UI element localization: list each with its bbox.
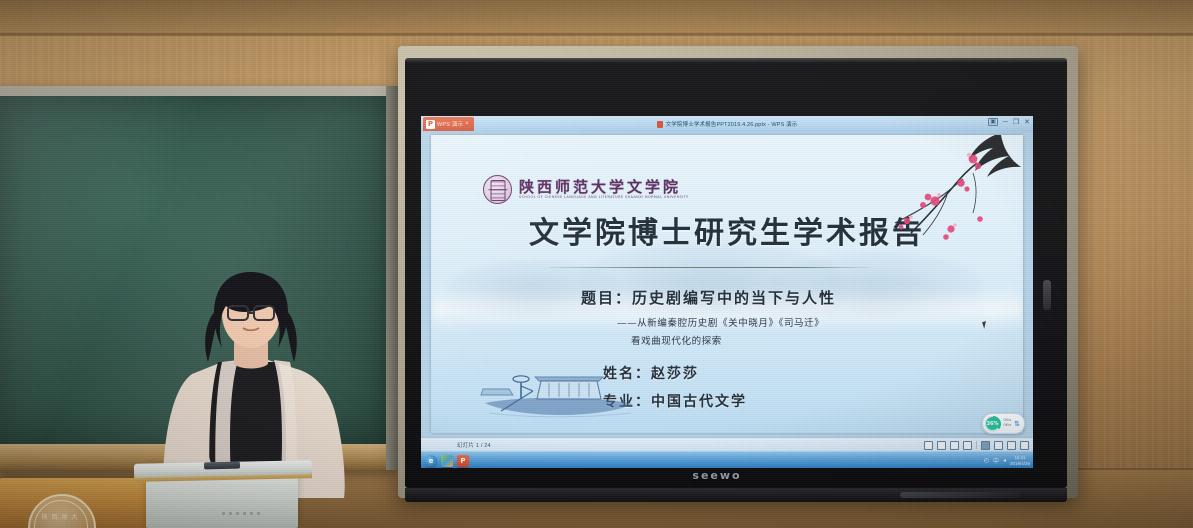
reading-view-icon[interactable] — [1007, 441, 1016, 450]
plum-blossom-icon — [877, 135, 1023, 309]
screenshot-root: seewo P WPS 演示 × 文学院博士学术报告PPT2019.4.26.p… — [0, 0, 1193, 528]
minimize-icon[interactable]: ─ — [1003, 119, 1008, 126]
wps-document-tab[interactable]: P WPS 演示 × — [423, 117, 474, 131]
panel-side-button[interactable] — [1043, 280, 1051, 310]
panel-bezel-highlight — [405, 58, 1067, 63]
close-icon[interactable]: × — [465, 121, 469, 127]
slide-subtitle-line-2: 看戏曲现代化的探索 — [431, 333, 1023, 347]
maximize-icon[interactable]: ❐ — [1013, 119, 1019, 126]
podium-vent-dots — [222, 510, 270, 516]
network-icon[interactable]: ◴ — [984, 457, 989, 464]
wps-logo-icon: P — [426, 120, 435, 129]
clock[interactable]: 15:11 2019/4/26 — [1010, 455, 1030, 465]
logo-text-column: 陕西师范大学文学院 SCHOOL OF CHINESE LANGUAGE AND… — [519, 180, 689, 199]
grid-icon[interactable] — [963, 441, 972, 450]
note-icon[interactable] — [937, 441, 946, 450]
windows-taskbar[interactable]: e P ◴ 中 ◂ 15:11 2019/4/26 — [421, 451, 1033, 468]
status-divider — [976, 441, 977, 449]
panel-brand-logo: seewo — [684, 469, 750, 482]
wps-presentation-taskbar-icon[interactable]: P — [457, 455, 469, 467]
slide-subtitle-line-1: ——从新编秦腔历史剧《关中晓月》《司马迁》 — [431, 315, 1023, 329]
taskbar-icon-group[interactable]: e P — [421, 455, 469, 467]
panel-screen[interactable]: P WPS 演示 × 文学院博士学术报告PPT2019.4.26.pptx - … — [421, 116, 1033, 468]
wps-title-bar: P WPS 演示 × 文学院博士学术报告PPT2019.4.26.pptx - … — [421, 116, 1033, 133]
volume-icon[interactable]: ◂ — [1003, 457, 1006, 464]
progress-percent-label: 36% — [986, 417, 999, 430]
document-icon — [657, 121, 663, 128]
institution-name-en: SCHOOL OF CHINESE LANGUAGE AND LITERATUR… — [519, 196, 689, 199]
lectern-emblem-text: 陕 西 师 大 — [34, 512, 86, 521]
wps-status-bar: 幻灯片 1 / 24 — [421, 437, 1033, 452]
ime-icon[interactable]: 中 — [993, 456, 999, 465]
upload-rate: 0K/s — [1004, 424, 1012, 428]
slide-indicator: 幻灯片 1 / 24 — [421, 441, 491, 449]
panel-ir-sensor-strip — [900, 492, 1020, 498]
ink-boat-icon — [479, 355, 639, 427]
comment-icon[interactable] — [950, 441, 959, 450]
file-explorer-icon[interactable] — [441, 455, 453, 467]
wall-seam-top — [0, 33, 1193, 36]
download-speed-widget[interactable]: 36% 0K/s 0K/s ⇅ — [982, 413, 1025, 434]
institution-name-cn: 陕西师范大学文学院 — [519, 180, 689, 195]
undo-icon[interactable] — [924, 441, 933, 450]
browser-icon[interactable]: e — [425, 455, 437, 467]
status-bar-controls[interactable] — [924, 438, 1029, 452]
remote-control[interactable] — [204, 462, 240, 470]
window-title-text: 文学院博士学术报告PPT2019.4.26.pptx - WPS 演示 — [666, 120, 798, 128]
window-controls[interactable]: ▣ ─ ❐ ✕ — [988, 118, 1030, 126]
wall-upper-band — [0, 0, 1193, 34]
wps-tab-label: WPS 演示 — [437, 120, 463, 128]
slide-canvas-area[interactable]: 陕西师范大学文学院 SCHOOL OF CHINESE LANGUAGE AND… — [421, 132, 1033, 437]
transfer-rates: 0K/s 0K/s — [1004, 419, 1012, 428]
restore-layout-icon[interactable]: ▣ — [988, 118, 998, 126]
transfer-arrow-icon: ⇅ — [1014, 420, 1020, 428]
slide-divider-line — [549, 267, 869, 268]
university-logo: 陕西师范大学文学院 SCHOOL OF CHINESE LANGUAGE AND… — [483, 175, 689, 204]
normal-view-icon[interactable] — [981, 441, 990, 450]
clock-date: 2019/4/26 — [1010, 461, 1030, 466]
window-title-group: 文学院博士学术报告PPT2019.4.26.pptx - WPS 演示 — [421, 116, 1033, 132]
slide-title-page[interactable]: 陕西师范大学文学院 SCHOOL OF CHINESE LANGUAGE AND… — [431, 135, 1023, 433]
slideshow-view-icon[interactable] — [1020, 441, 1029, 450]
university-seal-icon — [483, 175, 512, 204]
sorter-view-icon[interactable] — [994, 441, 1003, 450]
close-window-icon[interactable]: ✕ — [1024, 119, 1030, 126]
system-tray[interactable]: ◴ 中 ◂ 15:11 2019/4/26 — [984, 452, 1030, 468]
progress-ring-icon: 36% — [985, 416, 1001, 432]
